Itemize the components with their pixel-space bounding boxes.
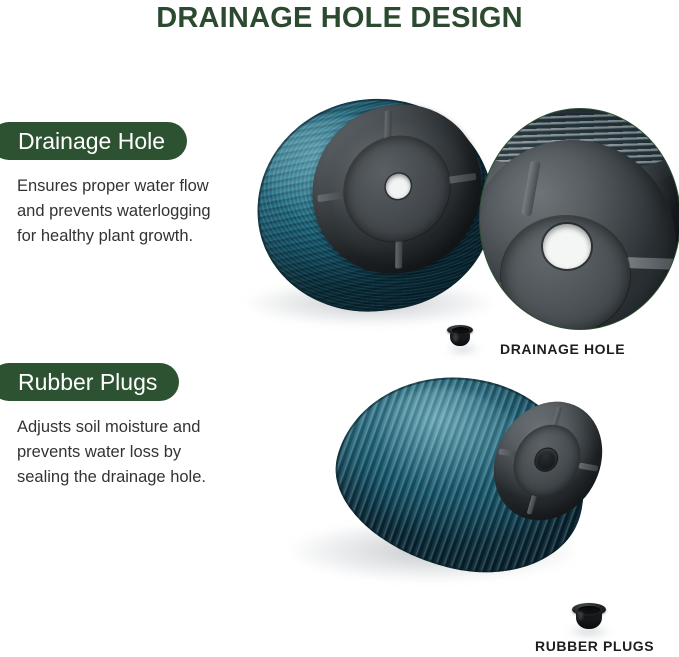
description-rubber-plugs: Adjusts soil moisture and prevents water… — [17, 415, 222, 490]
rubber-plug-icon-bottom — [572, 603, 606, 631]
badge-drainage-hole: Drainage Hole — [0, 122, 187, 160]
plug-bore — [578, 606, 600, 614]
lower-pot-rim-edge — [318, 351, 607, 596]
inset-base-rib-top — [522, 160, 542, 216]
page-title: DRAINAGE HOLE DESIGN — [0, 2, 679, 35]
lower-base-rib-right — [578, 463, 598, 472]
plug-highlight — [578, 611, 583, 620]
base-inner-ring — [340, 130, 453, 249]
inset-base-rib-left — [479, 282, 514, 296]
sealed-plug-in-hole — [533, 447, 560, 472]
product-illustration — [0, 0, 679, 657]
magnified-base-inset — [479, 108, 679, 330]
upper-pot-shadow — [245, 280, 495, 326]
lower-pot-rib-texture — [318, 351, 607, 596]
lower-pot-shadow — [288, 520, 578, 582]
base-rib-top — [385, 110, 392, 144]
lower-planter-pot — [318, 351, 607, 596]
inset-drainage-hole — [543, 224, 591, 268]
badge-rubber-plugs: Rubber Plugs — [0, 363, 179, 401]
caption-rubber-plugs: RUBBER PLUGS — [535, 638, 654, 654]
plug-flange — [447, 325, 473, 335]
plug-highlight — [453, 333, 458, 342]
pot-rib-texture-secondary — [247, 87, 504, 323]
lower-base-rib-top — [551, 406, 562, 428]
badge-rubber-plugs-label: Rubber Plugs — [18, 369, 157, 396]
plug-shadow-top — [445, 344, 481, 354]
inset-base-plate — [479, 140, 676, 330]
plug-body — [450, 331, 470, 346]
pot-gloss-highlight — [262, 108, 419, 229]
inset-rib-band — [479, 113, 679, 170]
base-rib-right — [442, 173, 476, 184]
plug-flange — [572, 603, 606, 616]
pot-rib-texture — [247, 87, 504, 323]
description-drainage-hole: Ensures proper water flow and prevents w… — [17, 174, 222, 249]
lower-pot-base-plate — [480, 393, 617, 528]
lower-base-rib-bottom — [526, 493, 537, 515]
caption-drainage-hole: DRAINAGE HOLE — [500, 341, 625, 357]
base-rib-left — [317, 190, 351, 201]
inset-inner-ring — [501, 216, 630, 330]
infographic-canvas: DRAINAGE HOLE DESIGN — [0, 0, 679, 657]
plug-shadow-bottom — [566, 626, 612, 637]
rubber-plug-icon-top — [447, 325, 473, 347]
upper-pot-base-plate — [305, 93, 488, 284]
base-rib-bottom — [395, 234, 402, 268]
lower-pot-gloss-highlight — [369, 374, 535, 509]
inset-pot-edge — [479, 108, 679, 188]
lower-base-rib-left — [498, 449, 518, 458]
drainage-hole-opening — [385, 172, 412, 201]
lower-base-inner-ring — [505, 420, 589, 502]
badge-drainage-hole-label: Drainage Hole — [18, 128, 165, 155]
plug-bore — [452, 327, 469, 334]
inset-base-rib-right — [626, 257, 679, 269]
pot-rim-edge — [247, 87, 504, 323]
upper-planter-pot — [247, 87, 504, 323]
plug-body — [576, 610, 602, 629]
